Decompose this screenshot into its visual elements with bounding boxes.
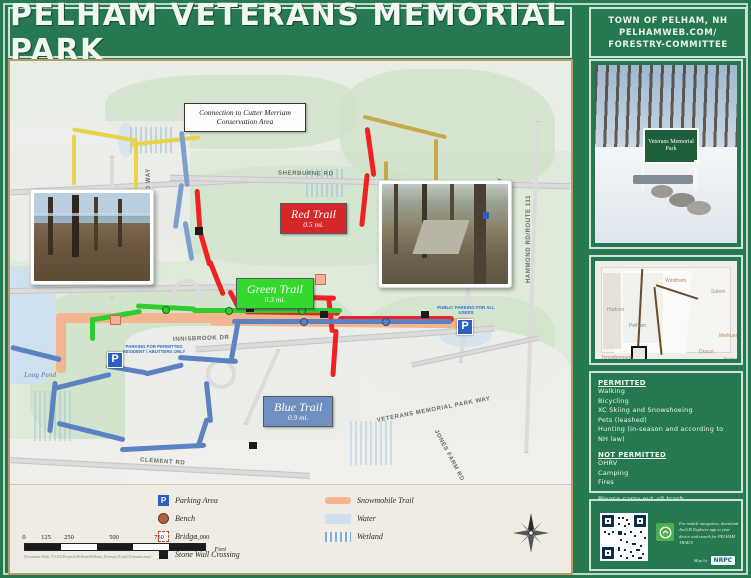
blue-trail-seg-10	[232, 319, 452, 324]
bridge-icon	[110, 315, 121, 325]
town-info-panel: TOWN OF PELHAM, NH PELHAMWEB.COM/ FOREST…	[589, 7, 747, 58]
scale-source-path: Document Path: T:\GIS\Projects\Pelham\Pe…	[24, 554, 206, 559]
north-arrow-icon	[511, 511, 551, 555]
photo-pond-shore	[30, 189, 154, 285]
wetland-patch-4	[350, 421, 394, 465]
bench-icon	[158, 513, 169, 524]
photo-pond-shore-image	[34, 193, 150, 281]
locator-inset-panel: Windham Salem Hudson Pelham Methuen Drac…	[589, 255, 743, 365]
map-credit-label: Map by	[694, 558, 708, 563]
legend-label-parking: Parking Area	[175, 496, 218, 505]
trail-label-blue-distance: 0.9 mi.	[274, 414, 322, 422]
road-label-sherburne-rd: SHERBURNE RD	[278, 171, 334, 178]
inset-town-hudson: Hudson	[607, 307, 624, 313]
bench-icon	[382, 318, 390, 326]
inset-town-tyngsborough: Tyngsborough	[601, 355, 633, 359]
parking-icon-residents[interactable]: P	[107, 352, 123, 368]
legend-item-bench: Bench	[158, 513, 195, 524]
stone-wall-icon	[320, 311, 328, 318]
rules-panel: PERMITTED Walking Bicycling XC Skiing an…	[589, 371, 743, 493]
park-sign-photo: Veterans Memorial Park	[595, 65, 737, 243]
scale-bar-blocks	[24, 543, 206, 551]
trail-label-blue: Blue Trail 0.9 mi.	[263, 396, 333, 427]
snowmobile-trail-seg-c	[56, 313, 66, 373]
scale-tick-2: 250	[64, 534, 74, 541]
page-title: PELHAM VETERANS MEMORIAL PARK	[8, 7, 572, 58]
water-label-long-pond: Long Pond	[24, 371, 56, 380]
legend-label-water: Water	[357, 514, 376, 523]
permitted-item-0: Walking	[598, 387, 734, 397]
trail-label-red: Red Trail 0.5 mi.	[280, 203, 347, 234]
nrpc-logo: NRPC	[711, 556, 735, 565]
photo-forest-boardwalk-image	[382, 184, 508, 284]
inset-town-dracut: Dracut	[699, 349, 714, 355]
callout-cutter-merriam: Connection to Cutter Merriam Conservatio…	[184, 103, 306, 132]
scale-tick-4: 750	[154, 534, 164, 541]
arcgis-explorer-icon	[656, 523, 674, 541]
legend-item-water: Water	[325, 513, 376, 524]
map-poster: PELHAM VETERANS MEMORIAL PARK TOWN OF PE…	[0, 0, 751, 578]
inset-town-windham: Windham	[665, 278, 686, 284]
legend-item-parking: P Parking Area	[158, 495, 218, 506]
permitted-item-3: Pets (leashed)	[598, 416, 734, 426]
stone-wall-icon	[249, 442, 257, 449]
map-legend: P Parking Area Bench Bridge	[10, 484, 571, 573]
permitted-item-2: XC Skiing and Snowshoeing	[598, 406, 734, 416]
bench-icon	[162, 306, 170, 314]
scale-tick-3: 500	[109, 534, 119, 541]
inset-town-andover: Andover	[723, 357, 737, 359]
inset-town-methuen: Methuen	[719, 333, 737, 339]
legend-label-bench: Bench	[175, 514, 195, 523]
trail-label-green: Green Trail 0.3 mi.	[236, 278, 314, 309]
main-map-frame[interactable]: Long Pond SHERBURNE RD WATERFORD WAY I	[8, 59, 573, 575]
not-permitted-item-0: OHRV	[598, 459, 734, 469]
stone-wall-icon	[195, 227, 203, 235]
town-line-2: PELHAMWEB.COM/	[619, 27, 717, 39]
trail-label-green-distance: 0.3 mi.	[247, 296, 303, 304]
scale-unit: Feet	[214, 546, 226, 553]
trail-label-red-distance: 0.5 mi.	[291, 221, 336, 229]
legend-label-wetland: Wetland	[357, 532, 383, 541]
stone-wall-icon	[421, 311, 429, 318]
wetland-swatch-icon	[325, 531, 351, 542]
water-swatch-icon	[325, 513, 351, 524]
not-permitted-heading: NOT PERMITTED	[598, 451, 734, 459]
legend-label-snowmobile: Snowmobile Trail	[357, 496, 414, 505]
park-sign-caption: Veterans Memorial Park	[645, 139, 697, 154]
yellow-trail-seg-4	[134, 141, 138, 189]
permitted-item-1: Bicycling	[598, 397, 734, 407]
yellow-trail-seg-3	[72, 135, 76, 185]
photo-forest-boardwalk	[378, 180, 512, 288]
park-sign-photo-panel: Veterans Memorial Park	[589, 59, 743, 249]
parking-note-public: PUBLIC PARKING FOR ALL USERS	[434, 305, 498, 315]
scale-bar: 0 125 250 500 750 1,000 Feet	[24, 534, 206, 559]
scale-tick-0: 0	[22, 534, 25, 541]
map-credit: Map by NRPC	[694, 556, 735, 565]
inset-town-pelham: Pelham	[629, 323, 646, 329]
bridge-icon	[315, 274, 326, 285]
town-line-1: TOWN OF PELHAM, NH	[608, 15, 727, 27]
page-title-text: PELHAM VETERANS MEMORIAL PARK	[10, 0, 570, 68]
inset-town-salem: Salem	[711, 289, 725, 295]
not-permitted-item-1: Camping	[598, 469, 734, 479]
locator-inset-map: Windham Salem Hudson Pelham Methuen Drac…	[595, 261, 737, 359]
permitted-item-4: Hunting (in-season and according to NH l…	[598, 425, 734, 444]
bench-icon	[300, 318, 308, 326]
scale-tick-1: 125	[41, 534, 51, 541]
town-line-3: FORESTRY-COMMITTEE	[608, 39, 728, 51]
permitted-heading: PERMITTED	[598, 379, 734, 387]
parking-icon: P	[158, 495, 169, 506]
bench-icon	[225, 307, 233, 315]
cul-de-sac-innisbrook	[172, 279, 202, 309]
locator-extent-box	[631, 346, 647, 359]
legend-item-wetland: Wetland	[325, 531, 383, 542]
qr-instruction-text: For mobile navigation, download ArcGIS E…	[679, 521, 741, 547]
road-label-hammond-rd: HAMMOND RD/ROUTE 111	[526, 195, 532, 283]
qr-code-icon[interactable]	[600, 513, 648, 561]
not-permitted-item-2: Fires	[598, 478, 734, 488]
scale-tick-5: 1,000	[195, 534, 210, 541]
legend-item-snowmobile: Snowmobile Trail	[325, 495, 414, 506]
qr-panel: For mobile navigation, download ArcGIS E…	[589, 499, 743, 571]
scale-tick-labels: 0 125 250 500 750 1,000	[24, 534, 204, 543]
parking-note-residents: PARKING FOR PERMITTED RESIDENT / ABUTTER…	[116, 344, 192, 354]
snowmobile-trail-swatch-icon	[325, 495, 351, 506]
parking-icon-public[interactable]: P	[457, 319, 473, 335]
